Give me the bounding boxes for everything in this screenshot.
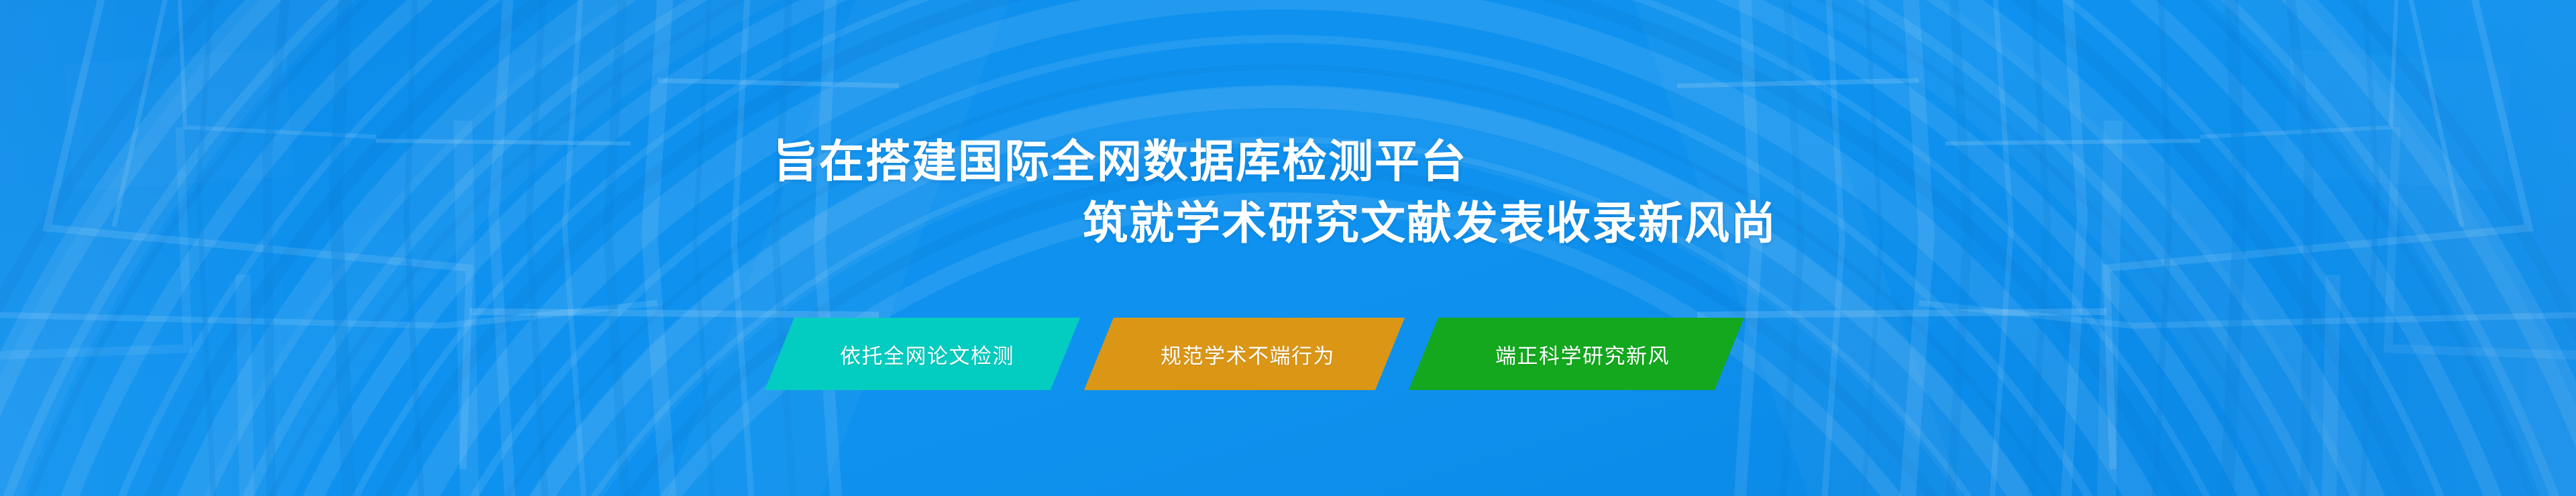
feature-tag-2[interactable]: 端正科学研究新风: [1409, 318, 1744, 390]
feature-tag-0[interactable]: 依托全网论文检测: [765, 318, 1080, 390]
background-graphic: [0, 0, 2576, 496]
feature-tag-label-0: 依托全网论文检测: [840, 339, 1014, 369]
feature-tag-label-1: 规范学术不端行为: [1161, 339, 1335, 369]
feature-tag-strip: 依托全网论文检测 规范学术不端行为 端正科学研究新风: [765, 318, 1744, 390]
promo-banner: 旨在搭建国际全网数据库检测平台 筑就学术研究文献发表收录新风尚 依托全网论文检测…: [0, 0, 2576, 496]
feature-tag-label-2: 端正科学研究新风: [1495, 339, 1670, 369]
feature-tag-1[interactable]: 规范学术不端行为: [1084, 318, 1405, 390]
